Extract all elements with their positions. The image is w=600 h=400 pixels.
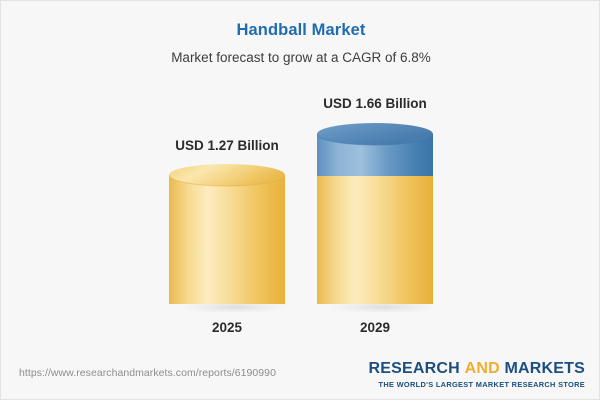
logo-word-research: RESEARCH [369,360,460,377]
logo-wordmark: RESEARCH AND MARKETS [369,359,585,378]
bar-2025[interactable] [169,164,285,312]
logo-word-markets: MARKETS [504,360,585,377]
chart-card: Handball Market Market forecast to grow … [0,0,600,400]
footer: https://www.researchandmarkets.com/repor… [1,353,600,399]
logo-word-and: AND [465,360,500,377]
bar-group-2029: USD 1.66 Billion [317,1,433,400]
cylinder-2029-svg [317,123,433,312]
logo-tagline: THE WORLD'S LARGEST MARKET RESEARCH STOR… [369,380,585,389]
value-label-2025: USD 1.27 Billion [117,138,337,153]
report-url[interactable]: https://www.researchandmarkets.com/repor… [19,367,276,379]
category-label-2029: 2029 [265,320,485,335]
value-label-2029: USD 1.66 Billion [265,96,485,111]
bar-group-2025: USD 1.27 Billion [169,1,285,400]
researchandmarkets-logo[interactable]: RESEARCH AND MARKETS THE WORLD'S LARGEST… [369,359,585,389]
bar-2029[interactable] [317,123,433,312]
plot-area: USD 1.27 Billion [1,1,600,400]
cylinder-2025-svg [169,164,285,312]
